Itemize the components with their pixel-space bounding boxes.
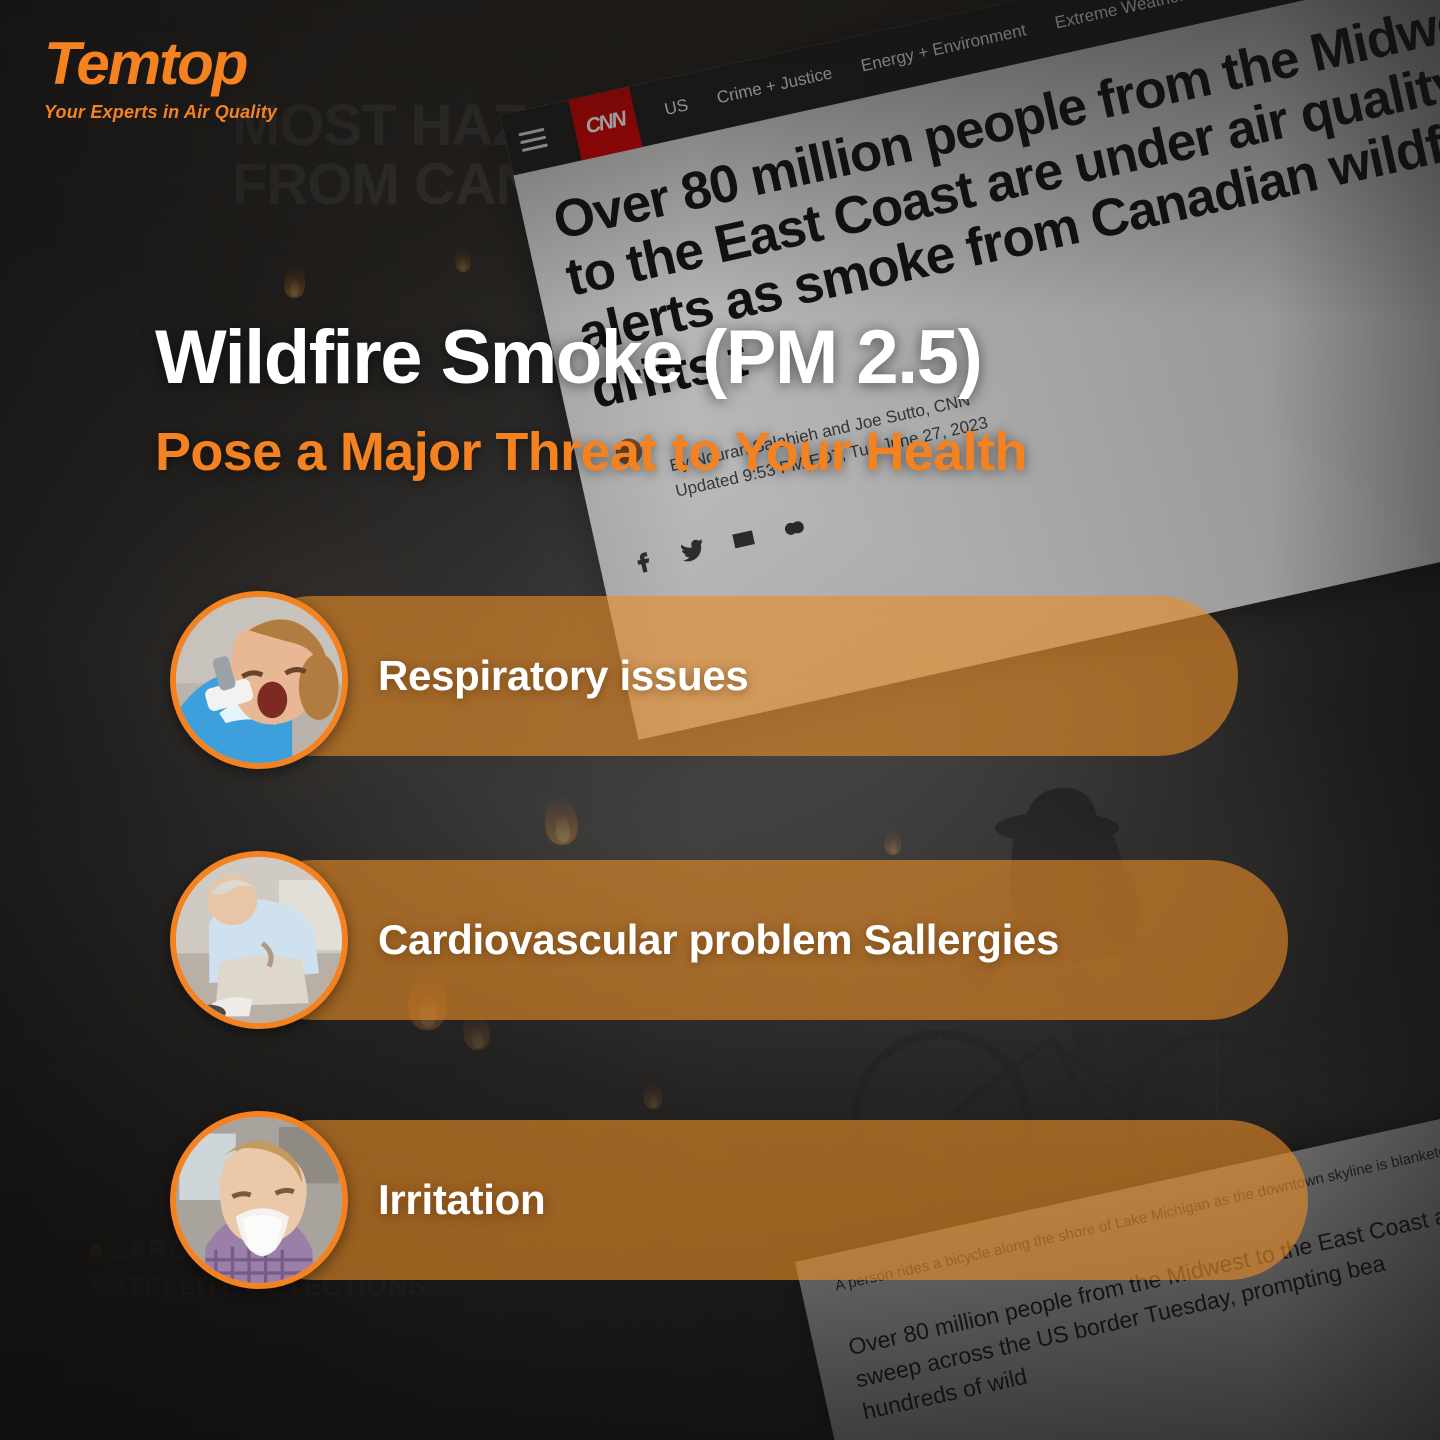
email-icon[interactable] [727, 524, 761, 558]
brand-name: Temtop [44, 34, 277, 94]
infographic-canvas: MOST HAZARDOUS AIR QUALITY FROM CANADIAN… [0, 0, 1440, 1440]
symptom-pill: Respiratory issues [233, 596, 1238, 756]
list-item: Irritation [0, 1120, 1440, 1206]
nav-item-extreme-weather[interactable]: Extreme Weather [1053, 0, 1186, 33]
child-coughing-inhaler-photo [170, 591, 348, 769]
twitter-icon[interactable] [676, 535, 710, 571]
hamburger-menu-icon[interactable] [518, 127, 547, 151]
nav-item-us[interactable]: US [663, 95, 690, 120]
symptom-label: Irritation [378, 1176, 545, 1224]
nav-item-crime-justice[interactable]: Crime + Justice [715, 63, 834, 108]
list-item: Cardiovascular problem Sallergies [0, 860, 1440, 946]
symptom-pill: Irritation [233, 1120, 1308, 1280]
facebook-icon[interactable] [627, 546, 659, 582]
brand-tagline: Your Experts in Air Quality [44, 102, 277, 123]
link-icon[interactable] [778, 513, 812, 547]
symptom-list: Respiratory issues [0, 600, 1440, 1380]
title-block: Wildfire Smoke (PM 2.5) Pose a Major Thr… [155, 318, 1027, 480]
flame-icon [455, 248, 471, 272]
symptom-label: Respiratory issues [378, 652, 748, 700]
elderly-man-chest-pain-photo [170, 851, 348, 1029]
symptom-label: Cardiovascular problem Sallergies [378, 916, 1059, 964]
symptom-pill: Cardiovascular problem Sallergies [233, 860, 1288, 1020]
list-item: Respiratory issues [0, 600, 1440, 686]
child-blowing-nose-photo [170, 1111, 348, 1289]
temtop-logo: Temtop Your Experts in Air Quality [44, 34, 277, 123]
page-subtitle: Pose a Major Threat to Your Health [155, 424, 1027, 481]
cnn-logo[interactable]: CNN [568, 86, 642, 160]
page-title: Wildfire Smoke (PM 2.5) [155, 318, 1027, 398]
